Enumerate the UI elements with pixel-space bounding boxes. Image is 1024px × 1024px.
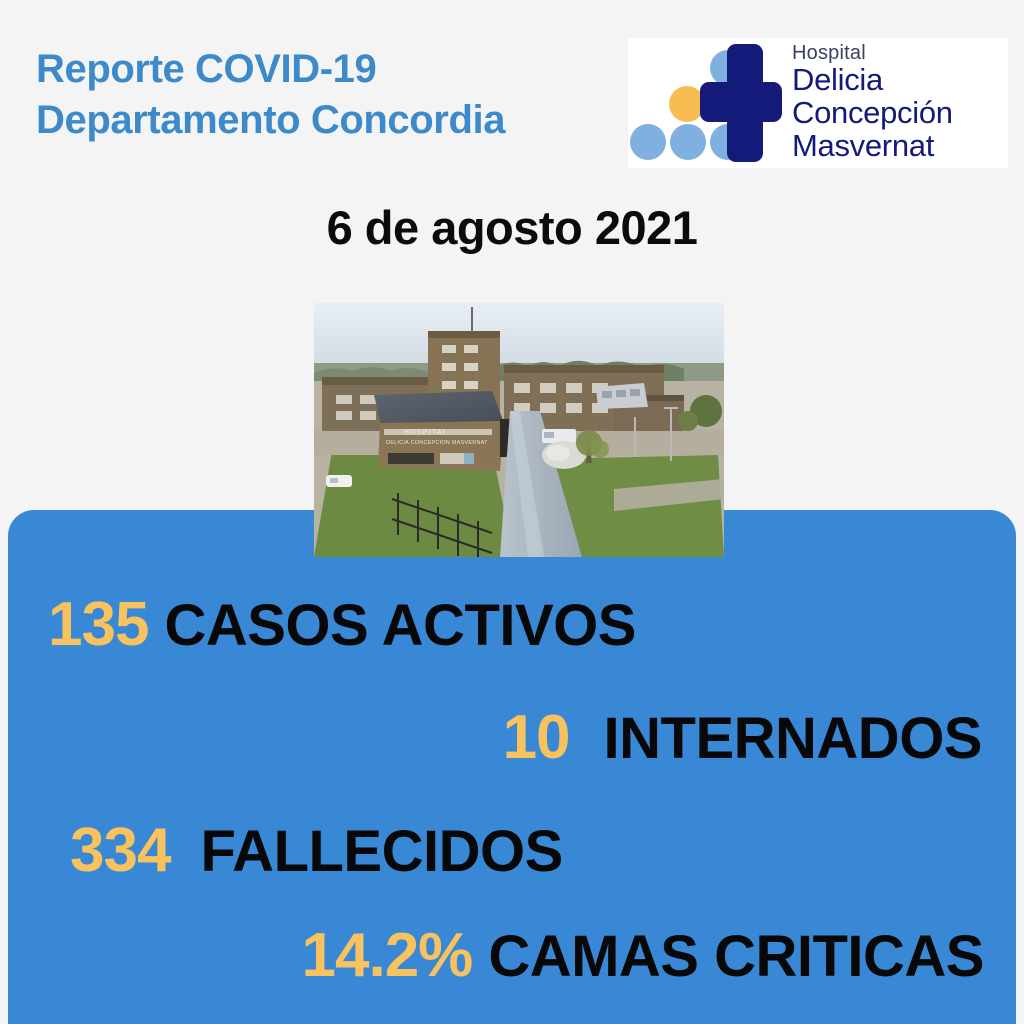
logo-dot-bottom-1-icon [630, 124, 666, 160]
stat-value-internados: 10 [503, 707, 570, 769]
stat-label-internados: INTERNADOS [604, 710, 982, 768]
stat-label-fallecidos: FALLECIDOS [200, 823, 562, 881]
logo-mark [628, 38, 788, 168]
stat-row-internados: 10 INTERNADOS [503, 707, 982, 769]
hospital-logo: Hospital Delicia Concepción Masvernat [628, 38, 1008, 168]
stat-value-camas-criticas: 14.2% [302, 925, 473, 987]
stat-label-camas-criticas: CAMAS CRITICAS [488, 928, 984, 986]
stat-row-camas-criticas: 14.2% CAMAS CRITICAS [302, 925, 984, 987]
stat-row-fallecidos: 334 FALLECIDOS [70, 820, 563, 882]
cross-horizontal-bar [700, 82, 782, 122]
stat-row-casos-activos: 135 CASOS ACTIVOS [48, 594, 636, 656]
logo-name-line-3: Masvernat [792, 130, 1008, 163]
page-title-line-2: Departamento Concordia [36, 95, 616, 146]
svg-text:HOSPITAL: HOSPITAL [404, 429, 448, 436]
medical-cross-icon [700, 44, 782, 162]
stat-value-casos-activos: 135 [48, 594, 148, 656]
hospital-photo-illustration: HOSPITAL DELICIA CONCEPCION MASVERNAT [314, 303, 724, 557]
stat-label-casos-activos: CASOS ACTIVOS [164, 597, 636, 655]
hospital-photo: HOSPITAL DELICIA CONCEPCION MASVERNAT [314, 303, 724, 557]
statistics-panel: 135 CASOS ACTIVOS 10 INTERNADOS 334 FALL… [8, 510, 1016, 1024]
logo-kicker: Hospital [792, 43, 1008, 63]
svg-text:DELICIA CONCEPCION MASVERNAT: DELICIA CONCEPCION MASVERNAT [386, 440, 488, 446]
page-title-line-1: Reporte COVID-19 [36, 44, 616, 95]
logo-name-line-1: Delicia [792, 64, 1008, 97]
logo-wordmark: Hospital Delicia Concepción Masvernat [788, 43, 1008, 163]
page-title: Reporte COVID-19 Departamento Concordia [36, 44, 616, 146]
logo-name-line-2: Concepción [792, 97, 1008, 130]
report-date: 6 de agosto 2021 [0, 200, 1024, 255]
stat-value-fallecidos: 334 [70, 820, 170, 882]
covid-report-poster: Reporte COVID-19 Departamento Concordia … [0, 0, 1024, 1024]
